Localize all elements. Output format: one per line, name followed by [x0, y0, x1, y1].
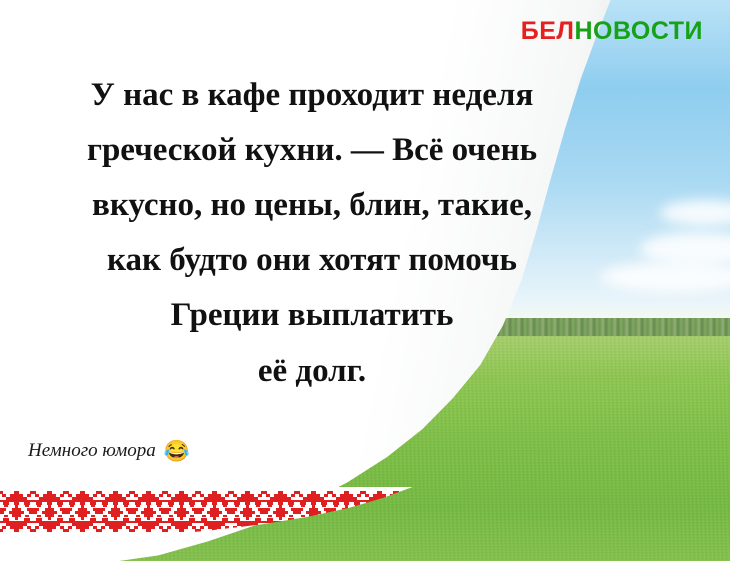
joke-line-1: У нас в кафе проходит неделя	[0, 68, 624, 123]
joke-text: У нас в кафе проходит неделя греческой к…	[0, 68, 624, 399]
joke-line-3: вкусно, но цены, блин, такие,	[0, 178, 624, 233]
signature: Немного юмора 😂	[28, 440, 190, 462]
cloud-shape	[660, 200, 730, 226]
joke-line-2: греческой кухни. — Всё очень	[0, 123, 624, 178]
logo-text-novosti: НОВОСТИ	[574, 17, 703, 45]
joke-line-4: как будто они хотят помочь	[0, 233, 624, 288]
humor-card-image: БЕЛНОВОСТИ У нас в кафе проходит неделя …	[0, 0, 730, 561]
brand-logo: БЕЛНОВОСТИ	[521, 17, 703, 46]
face-with-tears-of-joy-icon: 😂	[164, 441, 190, 462]
signature-label: Немного юмора	[28, 440, 156, 462]
joke-line-5: Греции выплатить	[0, 288, 624, 343]
logo-text-bel: БЕЛ	[521, 17, 575, 45]
joke-line-6: её долг.	[0, 344, 624, 399]
cloud-shape	[640, 232, 730, 266]
